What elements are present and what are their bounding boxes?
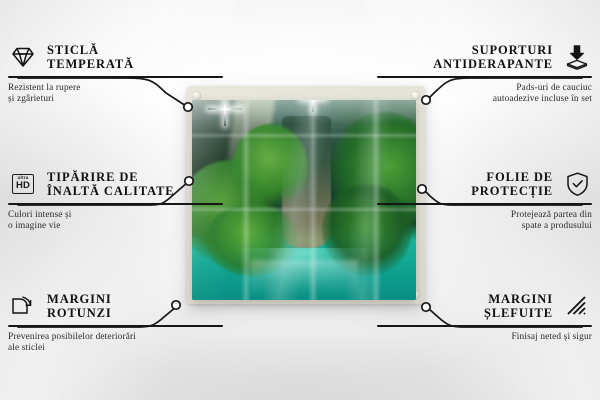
diamond-icon bbox=[8, 42, 38, 72]
polished-edge-icon bbox=[562, 291, 592, 321]
feature-heading: MARGINI ROTUNZI bbox=[8, 291, 223, 321]
divider bbox=[8, 203, 223, 205]
feature-title-line2: ROTUNZI bbox=[47, 306, 112, 320]
feature-title-line1: FOLIE DE bbox=[471, 170, 553, 184]
feature-polished-edges: MARGINI ȘLEFUITE Finisaj neted și sigur bbox=[377, 291, 592, 343]
feature-title-line1: MARGINI bbox=[47, 292, 112, 306]
feature-heading: MARGINI ȘLEFUITE bbox=[377, 291, 592, 321]
feature-title-line2: TEMPERATĂ bbox=[47, 57, 134, 71]
feature-title-line1: STICLĂ bbox=[47, 43, 134, 57]
divider bbox=[377, 325, 592, 327]
feature-heading: STICLĂ TEMPERATĂ bbox=[8, 42, 223, 72]
feature-tempered-glass: STICLĂ TEMPERATĂ Rezistent la rupere și … bbox=[8, 42, 223, 105]
feature-title-line2: ANTIDERAPANTE bbox=[433, 57, 553, 71]
feature-desc-line1: Culori intense și bbox=[8, 210, 223, 221]
feature-desc-line1: Finisaj neted și sigur bbox=[377, 332, 592, 343]
feature-heading: SUPORTURI ANTIDERAPANTE bbox=[377, 42, 592, 72]
divider bbox=[8, 325, 223, 327]
feature-desc-line2: autoadezive incluse în set bbox=[377, 94, 592, 105]
feature-title-line2: ȘLEFUITE bbox=[484, 306, 553, 320]
feature-desc-line1: Protejează partea din bbox=[377, 210, 592, 221]
feature-protective-film: FOLIE DE PROTECȚIE Protejează partea din… bbox=[377, 169, 592, 232]
water-reflection bbox=[250, 260, 358, 296]
feature-desc-line1: Rezistent la rupere bbox=[8, 83, 223, 94]
infographic-canvas: STICLĂ TEMPERATĂ Rezistent la rupere și … bbox=[0, 0, 600, 400]
feature-desc-line2: și zgârieturi bbox=[8, 94, 223, 105]
ultra-hd-badge-icon: ultra HD bbox=[8, 169, 38, 199]
feature-title-line2: PROTECȚIE bbox=[471, 184, 553, 198]
feature-desc-line2: ale sticlei bbox=[8, 343, 223, 354]
feature-rounded-edges: MARGINI ROTUNZI Prevenirea posibilelor d… bbox=[8, 291, 223, 354]
divider bbox=[377, 203, 592, 205]
divider bbox=[377, 76, 592, 78]
feature-desc-line1: Prevenirea posibilelor deteriorări bbox=[8, 332, 223, 343]
rounded-corner-icon bbox=[8, 291, 38, 321]
shield-check-icon bbox=[562, 169, 592, 199]
feature-desc-line1: Pads-uri de cauciuc bbox=[377, 83, 592, 94]
anti-slip-pad-icon bbox=[562, 42, 592, 72]
feature-heading: ultra HD TIPĂRIRE DE ÎNALTĂ CALITATE bbox=[8, 169, 223, 199]
divider bbox=[8, 76, 223, 78]
feature-title-line2: ÎNALTĂ CALITATE bbox=[47, 184, 175, 198]
feature-desc-line2: o imagine vie bbox=[8, 221, 223, 232]
feature-title-line1: MARGINI bbox=[484, 292, 553, 306]
hd-badge-large-text: HD bbox=[16, 181, 30, 191]
feature-title-line1: SUPORTURI bbox=[433, 43, 553, 57]
feature-high-quality-print: ultra HD TIPĂRIRE DE ÎNALTĂ CALITATE Cul… bbox=[8, 169, 223, 232]
feature-desc-line2: spate a produsului bbox=[377, 221, 592, 232]
feature-heading: FOLIE DE PROTECȚIE bbox=[377, 169, 592, 199]
feature-anti-slip-supports: SUPORTURI ANTIDERAPANTE Pads-uri de cauc… bbox=[377, 42, 592, 105]
foliage-cluster bbox=[232, 124, 308, 212]
feature-title-line1: TIPĂRIRE DE bbox=[47, 170, 175, 184]
